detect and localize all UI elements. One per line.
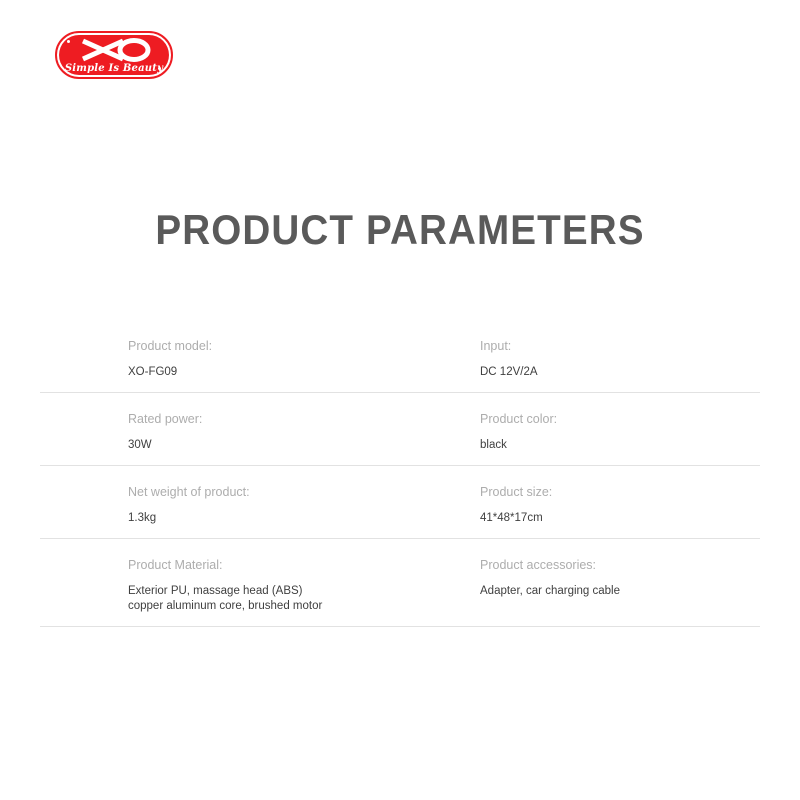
spec-label: Product model: [128,338,415,354]
spec-label: Product size: [480,484,760,500]
spec-label: Net weight of product: [128,484,415,500]
spec-cell-rated-power: Rated power: 30W [40,411,415,453]
spec-cell-product-color: Product color: black [415,411,760,453]
spec-cell-product-material: Product Material: Exterior PU, massage h… [40,557,415,614]
table-row: Net weight of product: 1.3kg Product siz… [40,466,760,539]
spec-cell-net-weight: Net weight of product: 1.3kg [40,484,415,526]
spec-value: 41*48*17cm [480,511,760,526]
logo-dot-bottom-right [158,67,161,70]
spec-label: Product Material: [128,557,415,573]
logo-xo-wordmark-icon [55,37,173,63]
spec-label: Product color: [480,411,760,427]
spec-cell-product-accessories: Product accessories: Adapter, car chargi… [415,557,760,614]
spec-label: Input: [480,338,760,354]
spec-value: 30W [128,438,415,453]
logo-dot-top-left [67,40,70,43]
logo-tagline: Simple Is Beauty [55,63,173,74]
page-title: PRODUCT PARAMETERS [32,206,768,254]
spec-cell-product-model: Product model: XO-FG09 [40,338,415,380]
spec-value: black [480,438,760,453]
xo-logo: Simple Is Beauty [55,31,173,79]
product-parameters-table: Product model: XO-FG09 Input: DC 12V/2A … [40,330,760,627]
spec-value: Exterior PU, massage head (ABS) copper a… [128,584,415,614]
table-row: Product Material: Exterior PU, massage h… [40,539,760,627]
table-row: Rated power: 30W Product color: black [40,393,760,466]
spec-cell-product-size: Product size: 41*48*17cm [415,484,760,526]
spec-value: 1.3kg [128,511,415,526]
spec-value: XO-FG09 [128,365,415,380]
spec-label: Rated power: [128,411,415,427]
spec-value: Adapter, car charging cable [480,584,760,599]
spec-label: Product accessories: [480,557,760,573]
spec-value: DC 12V/2A [480,365,760,380]
spec-cell-input: Input: DC 12V/2A [415,338,760,380]
table-row: Product model: XO-FG09 Input: DC 12V/2A [40,330,760,393]
